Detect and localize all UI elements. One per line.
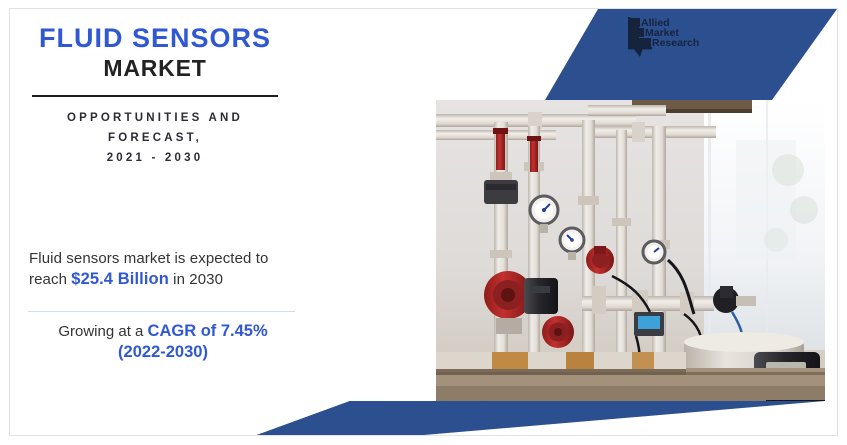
infographic-banner: Allied Market Research FLUID SENSORS MAR… xyxy=(0,0,847,445)
market-value-suffix: in 2030 xyxy=(169,271,223,288)
cagr-highlight-rate: CAGR of 7.45% xyxy=(148,322,268,340)
title-block: FLUID SENSORS MARKET xyxy=(10,23,300,82)
left-content-column: FLUID SENSORS MARKET OPPORTUNITIES AND F… xyxy=(10,9,300,435)
page-title-primary: FLUID SENSORS xyxy=(10,23,300,53)
cagr-prefix: Growing at a xyxy=(58,323,147,340)
title-divider xyxy=(32,95,278,97)
report-subtitle: OPPORTUNITIES AND FORECAST, 2021 - 2030 xyxy=(10,108,300,168)
market-value-highlight: $25.4 Billion xyxy=(71,270,169,288)
subtitle-line-2: FORECAST, xyxy=(10,128,300,148)
pump-small xyxy=(542,316,574,348)
industrial-piping-photo xyxy=(436,100,825,401)
allied-market-research-logo: Allied Market Research xyxy=(628,17,712,61)
page-title-secondary: MARKET xyxy=(10,54,300,82)
cagr-statement: Growing at a CAGR of 7.45%(2022-2030) xyxy=(29,321,297,363)
gauge-3 xyxy=(643,241,665,263)
pump-mid xyxy=(586,246,614,274)
stats-divider xyxy=(28,311,295,312)
subtitle-line-3: 2021 - 2030 xyxy=(10,148,300,168)
logo-text-line3: Research xyxy=(652,37,699,49)
market-value-statement: Fluid sensors market is expected to reac… xyxy=(29,249,297,290)
subtitle-line-1: OPPORTUNITIES AND xyxy=(10,108,300,128)
cagr-highlight-period: (2022-2030) xyxy=(118,343,208,361)
